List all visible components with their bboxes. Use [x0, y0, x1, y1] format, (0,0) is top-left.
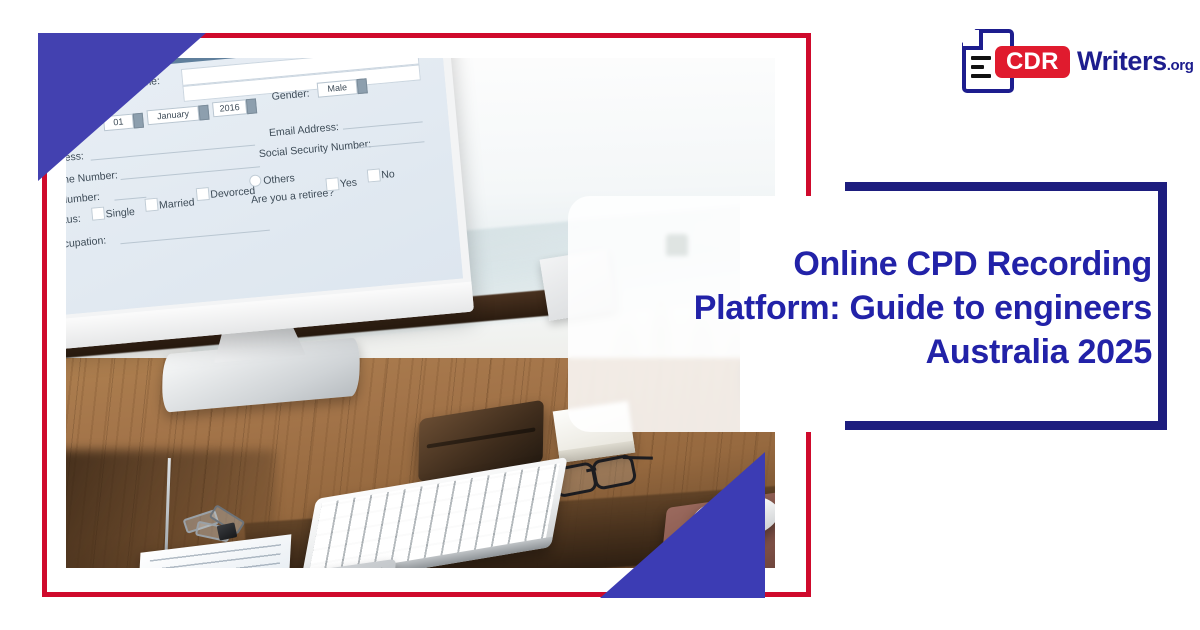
form-spinner-gender[interactable]	[357, 78, 368, 94]
page-title-line-3: Australia 2025	[600, 330, 1152, 374]
form-option-retiree-no: No	[381, 168, 395, 181]
decorative-triangle-bottom-right	[600, 452, 765, 598]
form-checkbox-devorced[interactable]	[196, 187, 210, 201]
decorative-triangle-top-left	[38, 33, 206, 181]
form-option-married: Married	[159, 196, 196, 211]
form-label-occupation: Occupation:	[66, 235, 107, 252]
logo-wordmark-text: Writers	[1077, 46, 1167, 76]
form-input-birth-year[interactable]: 2016	[212, 99, 247, 117]
form-spinner-year[interactable]	[246, 98, 257, 114]
form-option-others: Others	[263, 172, 295, 187]
form-label-id-number: ID Number:	[66, 191, 100, 208]
page-title: Online CPD Recording Platform: Guide to …	[600, 242, 1152, 375]
form-label-status: Status:	[66, 213, 81, 228]
logo-wordmark: Writers.org	[1077, 46, 1193, 77]
photo-paper-clips	[184, 510, 246, 544]
form-option-devorced: Devorced	[210, 185, 256, 201]
form-radio-others[interactable]	[249, 174, 262, 187]
form-label-ssn: Social Security Number:	[258, 138, 371, 160]
form-input-email[interactable]	[343, 121, 423, 129]
page-title-line-2: Platform: Guide to engineers	[600, 286, 1152, 330]
form-input-gender[interactable]: Male	[317, 79, 358, 98]
document-icon-fold	[963, 30, 983, 50]
form-label-gender: Gender:	[271, 88, 310, 103]
form-input-occupation[interactable]	[120, 230, 269, 245]
page-title-line-1: Online CPD Recording	[600, 242, 1152, 286]
form-checkbox-married[interactable]	[144, 198, 158, 212]
form-label-email: Email Address:	[269, 121, 340, 139]
form-option-single: Single	[105, 206, 135, 221]
logo-tld: .org	[1167, 57, 1194, 74]
logo-badge-cdr: CDR	[995, 46, 1070, 78]
form-input-id-number[interactable]	[114, 197, 146, 201]
brand-logo[interactable]: CDR Writers.org	[962, 28, 1176, 94]
form-checkbox-retiree-no[interactable]	[367, 168, 381, 182]
form-label-retiree: Are you a retiree?	[251, 187, 335, 207]
document-icon-line-1	[971, 56, 991, 60]
document-icon-line-2	[971, 65, 984, 69]
form-checkbox-single[interactable]	[91, 207, 105, 221]
binder-clip	[217, 522, 238, 540]
social-card-canvas: A. General Questions Proposed Insured's …	[0, 0, 1200, 630]
form-checkbox-retiree-yes[interactable]	[325, 177, 339, 191]
form-option-retiree-yes: Yes	[339, 177, 357, 191]
document-icon-line-3	[971, 74, 991, 78]
